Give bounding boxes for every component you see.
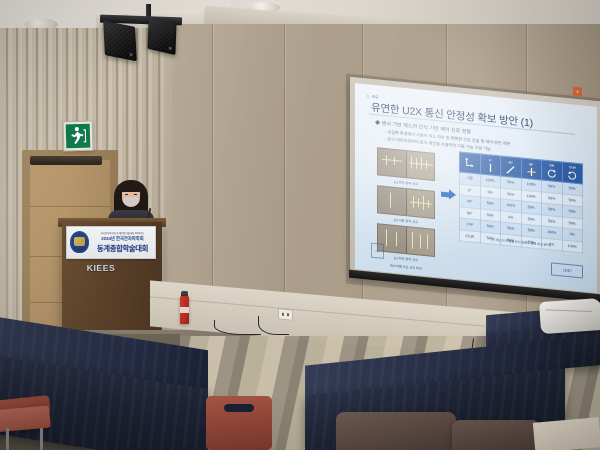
door-closer (30, 156, 102, 165)
slide-seal: KR (371, 243, 384, 259)
presenter-fringe (120, 181, 142, 192)
podium-banner: 한국전자파학회 추계종합학술대회 2024년도 2024년 한국전자파학회 동계… (66, 226, 156, 259)
rotate-counterclockwise-icon: CCW (562, 162, 583, 184)
cross-icon: 90° (521, 158, 542, 180)
banner-line-1: 한국전자파학회 추계종합학술대회 2024년도 (92, 231, 153, 235)
presenter-mask (123, 197, 139, 206)
chair-handle-cutout (224, 404, 254, 412)
rotate-clockwise-icon: CW (542, 160, 563, 182)
conference-room-photo: 1. 개요 유연한 U2X 통신 안정성 확보 방안 (1) ◆ 센서 기반 제… (0, 0, 600, 450)
slide-thumbnail-column: (a) 정지 동작 신호 (b) 이동 동작 신호 (377, 147, 435, 275)
paper-stack (533, 417, 600, 450)
vertical-line-icon: 0° (480, 154, 501, 176)
emergency-exit-sign (63, 121, 94, 152)
slide-footer-logo: UNIV (551, 262, 583, 278)
ceiling-speaker-right (147, 17, 176, 55)
ceiling-speaker-left (103, 21, 137, 62)
slide-section-tag: 1. 개요 (367, 93, 379, 99)
white-bag (539, 298, 600, 334)
running-man-icon (69, 126, 88, 146)
fire-extinguisher-label (180, 307, 189, 313)
banner-line-3: 동계종합학술대회 (92, 243, 153, 254)
axis-origin-icon (460, 152, 481, 174)
slide-number-marker: 4 (573, 87, 582, 97)
conference-emblem (70, 231, 89, 253)
banner-line-2: 2024년 한국전자파학회 (92, 236, 153, 242)
chair-brown-center[interactable] (336, 412, 456, 450)
sensor-waveform-c (377, 223, 435, 257)
chair-brown-right[interactable] (452, 420, 540, 450)
sensor-waveform-b (377, 185, 435, 219)
podium-kiees-logo: KIEES (80, 262, 122, 273)
diagonal-line-icon: 45° (501, 156, 522, 178)
projection-screen: 1. 개요 유연한 U2X 통신 안정성 확보 방안 (1) ◆ 센서 기반 제… (355, 83, 597, 293)
sensor-waveform-a (377, 147, 435, 181)
